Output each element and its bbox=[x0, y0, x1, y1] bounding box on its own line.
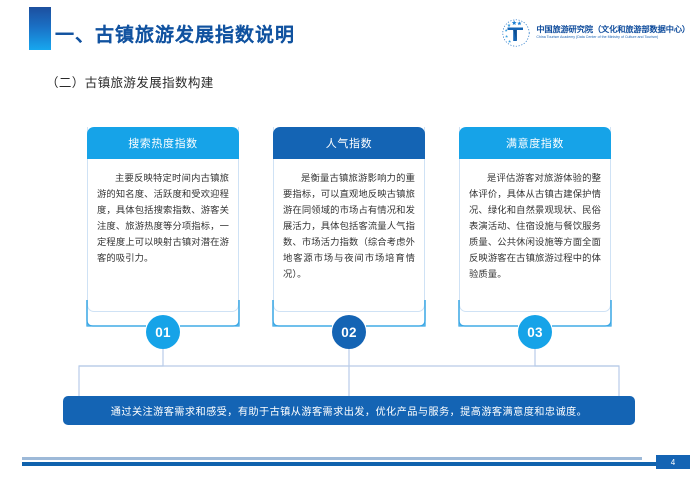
tourism-academy-logo-icon bbox=[501, 18, 531, 48]
step-number: 03 bbox=[527, 325, 543, 340]
card-header-popularity: 人气指数 bbox=[273, 127, 425, 159]
card-title: 满意度指数 bbox=[506, 135, 564, 151]
index-card-satisfaction: 满意度指数 是评估游客对旅游体验的整体评价，具体从古镇古建保护情况、绿化和自然景… bbox=[459, 127, 611, 312]
step-number: 02 bbox=[341, 325, 357, 340]
logo-name-cn: 中国旅游研究院（文化和旅游部数据中心） bbox=[536, 26, 690, 35]
page-number-badge: 4 bbox=[656, 455, 690, 469]
footer-divider-thick bbox=[22, 462, 660, 466]
organization-logo: 中国旅游研究院（文化和旅游部数据中心） China Tourism Academ… bbox=[501, 18, 690, 48]
summary-banner-text: 通过关注游客需求和感受，有助于古镇从游客需求出发，优化产品与服务，提高游客满意度… bbox=[111, 403, 587, 418]
step-number: 01 bbox=[155, 325, 171, 340]
footer-divider-thin bbox=[22, 457, 642, 460]
card-body-text: 主要反映特定时间内古镇旅游的知名度、活跃度和受欢迎程度，具体包括搜索指数、游客关… bbox=[88, 159, 238, 267]
slide-footer: 4 bbox=[0, 455, 698, 475]
card-body-text: 是衡量古镇旅游影响力的重要指标，可以直观地反映古镇旅游在同领域的市场占有情况和发… bbox=[274, 159, 424, 283]
index-cards-container: 搜索热度指数 主要反映特定时间内古镇旅游的知名度、活跃度和受欢迎程度，具体包括搜… bbox=[0, 127, 698, 312]
card-body-text: 是评估游客对旅游体验的整体评价，具体从古镇古建保护情况、绿化和自然景观现状、民俗… bbox=[460, 159, 610, 283]
card-header-search-heat: 搜索热度指数 bbox=[87, 127, 239, 159]
title-accent-block bbox=[29, 7, 51, 50]
slide-header: 一、古镇旅游发展指数说明 中国旅游研究院（文化和旅游部数据中心） China T… bbox=[0, 0, 698, 58]
card-header-satisfaction: 满意度指数 bbox=[459, 127, 611, 159]
index-card-search-heat: 搜索热度指数 主要反映特定时间内古镇旅游的知名度、活跃度和受欢迎程度，具体包括搜… bbox=[87, 127, 239, 312]
section-subtitle: （二）古镇旅游发展指数构建 bbox=[46, 72, 214, 91]
connector-diagram: 01 02 03 bbox=[0, 300, 698, 405]
logo-name-en: China Tourism Academy (Data Center of th… bbox=[536, 36, 690, 40]
page-title: 一、古镇旅游发展指数说明 bbox=[55, 20, 295, 47]
logo-text-block: 中国旅游研究院（文化和旅游部数据中心） China Tourism Academ… bbox=[536, 26, 690, 40]
card-title: 人气指数 bbox=[326, 135, 372, 151]
summary-banner: 通过关注游客需求和感受，有助于古镇从游客需求出发，优化产品与服务，提高游客满意度… bbox=[63, 396, 635, 425]
step-node-01: 01 bbox=[146, 315, 180, 349]
index-card-popularity: 人气指数 是衡量古镇旅游影响力的重要指标，可以直观地反映古镇旅游在同领域的市场占… bbox=[273, 127, 425, 312]
card-title: 搜索热度指数 bbox=[128, 135, 198, 151]
step-node-03: 03 bbox=[518, 315, 552, 349]
step-node-02: 02 bbox=[332, 315, 366, 349]
